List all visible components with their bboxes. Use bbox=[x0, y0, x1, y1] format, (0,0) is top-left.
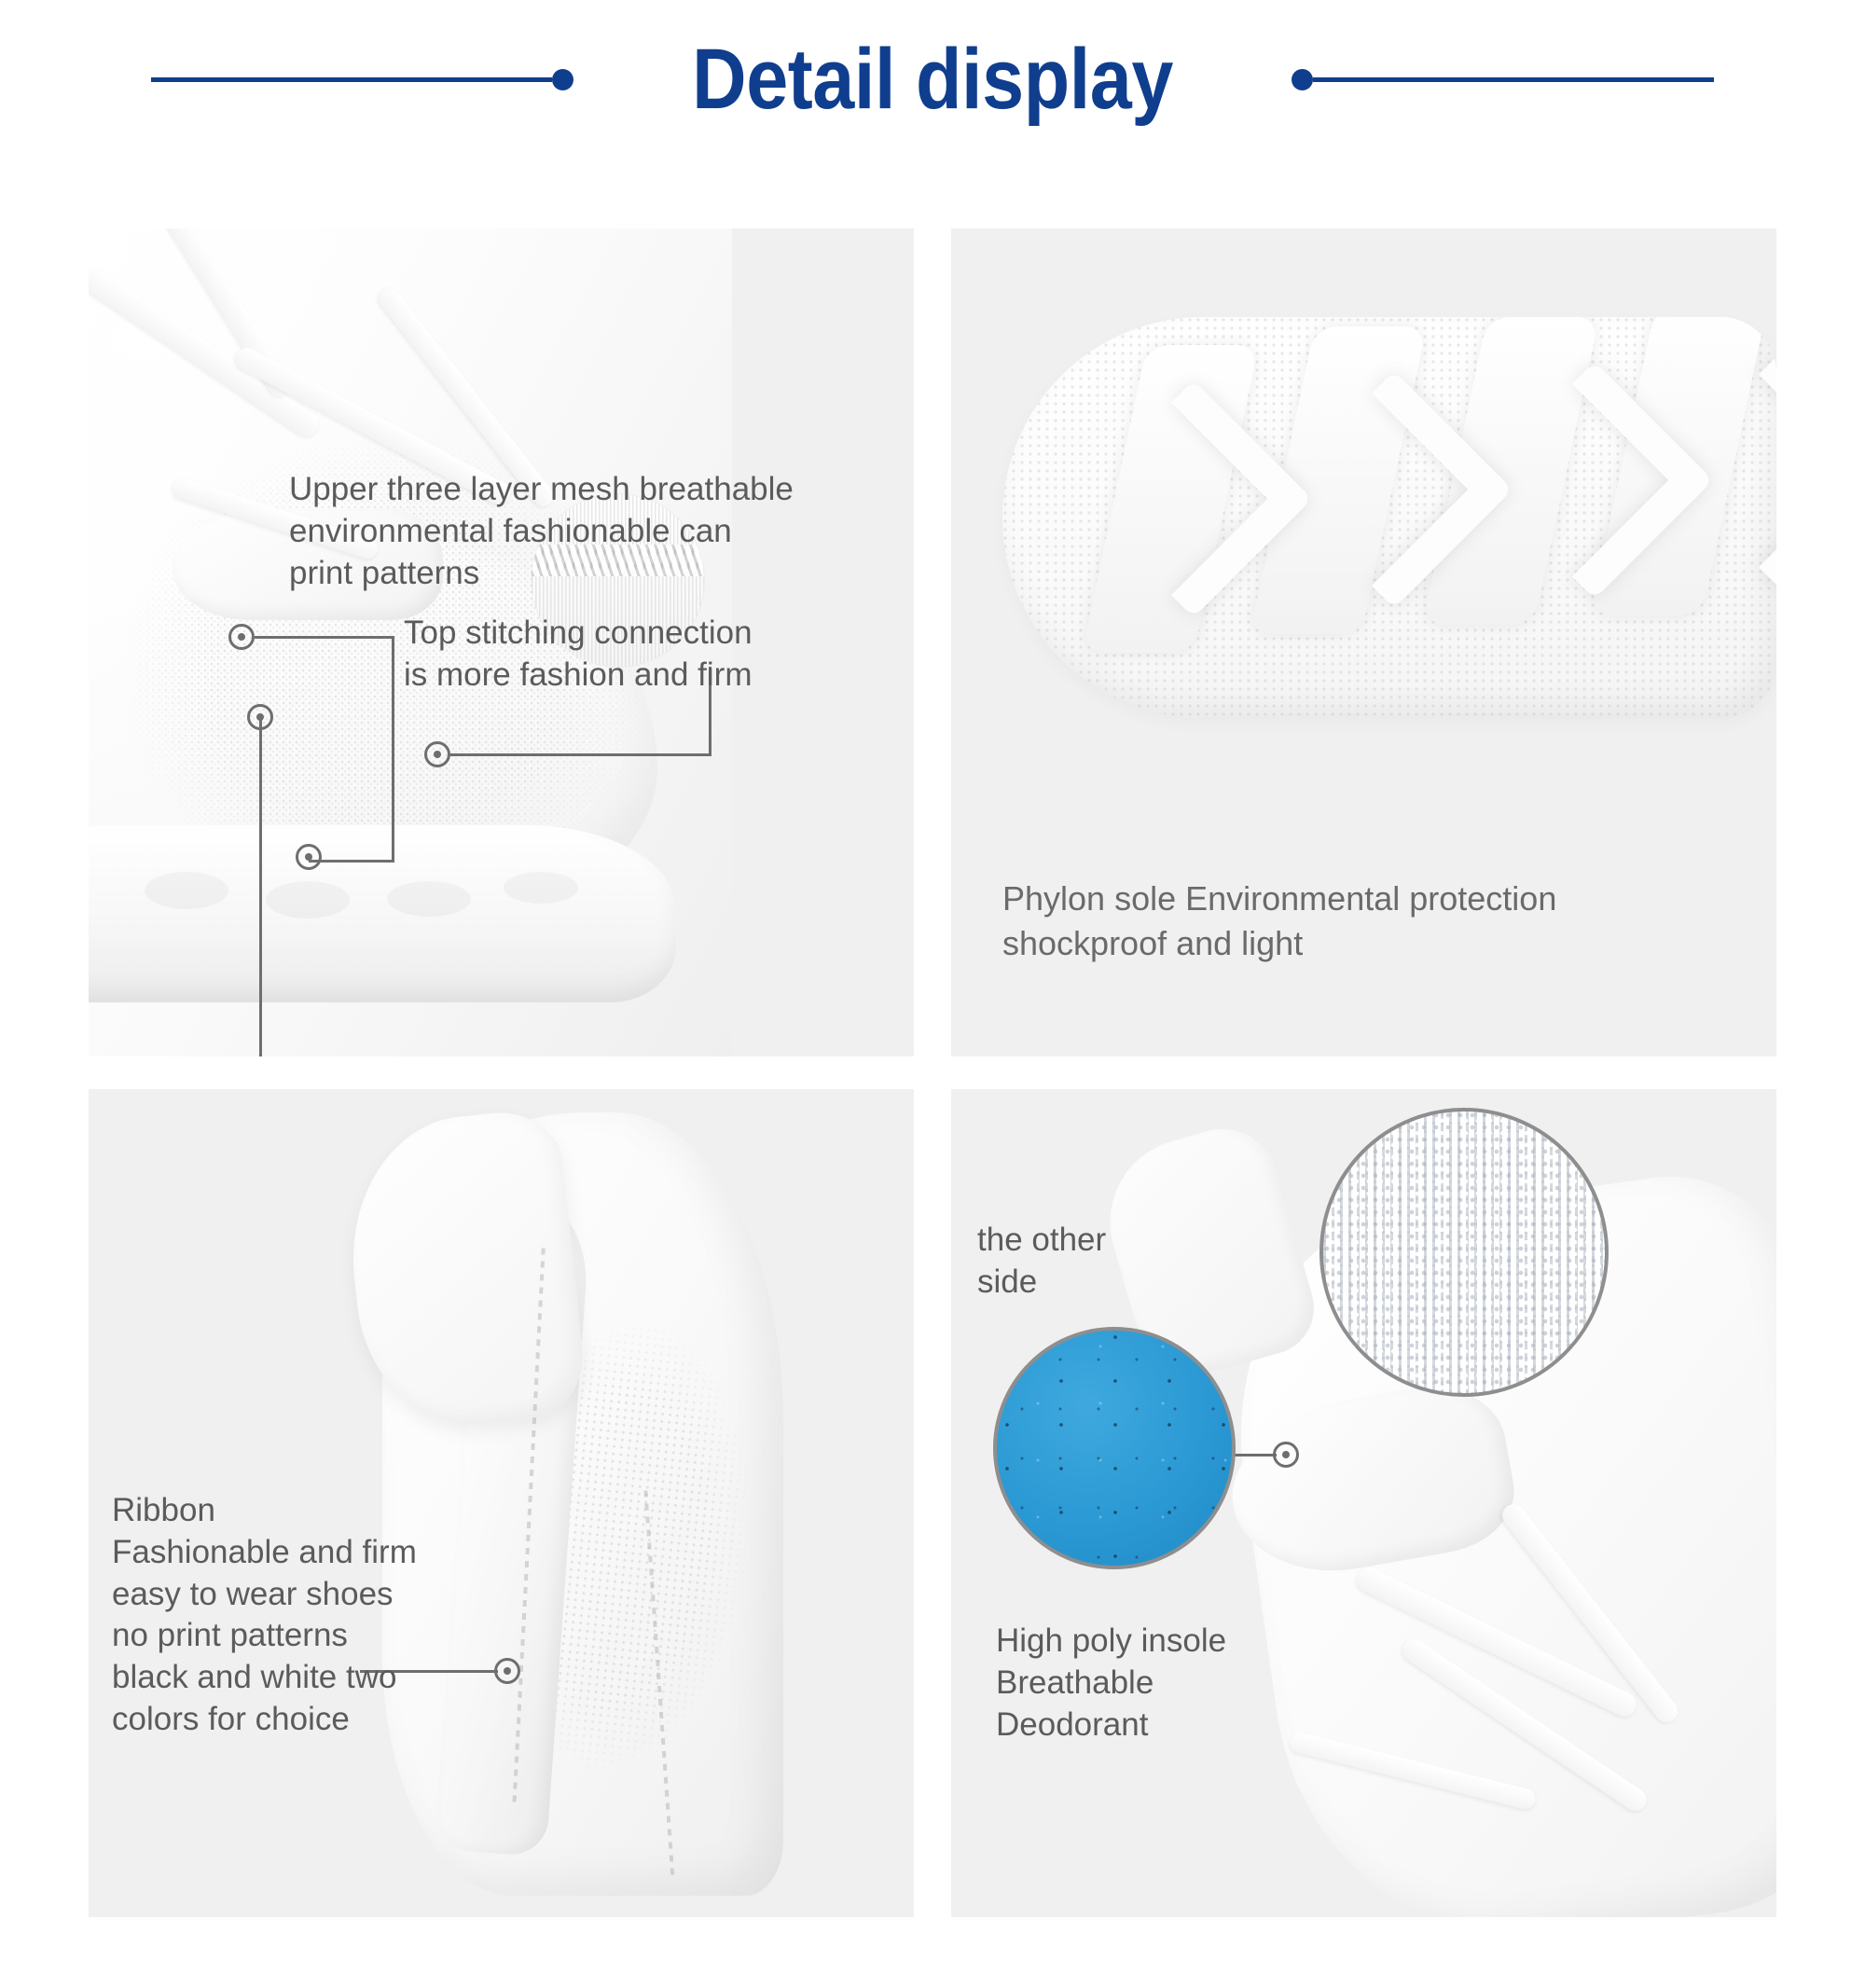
ribbon-loop bbox=[338, 1107, 588, 1436]
callout-marker-insole[interactable] bbox=[1273, 1442, 1299, 1468]
insole-speckle-texture bbox=[997, 1331, 1232, 1566]
header-rule-line-left bbox=[151, 77, 552, 82]
panel-upper-mesh: Upper three layer mesh breathable enviro… bbox=[89, 228, 914, 1056]
shoelace-group bbox=[1343, 1593, 1776, 1917]
phylon-sole-caption: Phylon sole Environmental protection sho… bbox=[1002, 877, 1748, 965]
header-rule-dot-left bbox=[552, 69, 573, 90]
outsole-body bbox=[1002, 317, 1776, 718]
detail-panel-grid: Upper three layer mesh breathable enviro… bbox=[89, 228, 1776, 1930]
weave-fabric-closeup-circle bbox=[1319, 1108, 1609, 1397]
leader-line-stitch-h bbox=[450, 753, 711, 756]
callout-marker-stitch-point[interactable] bbox=[424, 741, 450, 767]
page-title: Detail display bbox=[616, 36, 1249, 122]
sole-notch-1 bbox=[145, 872, 228, 909]
sole-notch-3 bbox=[387, 881, 471, 917]
header-rule-dot-right bbox=[1292, 69, 1313, 90]
sole-notch-4 bbox=[504, 872, 578, 904]
other-side-callout-text: the other side bbox=[977, 1220, 1238, 1304]
panel-high-poly-insole: the other side High poly insole Breathab… bbox=[951, 1089, 1776, 1917]
sole-notch-2 bbox=[266, 881, 350, 918]
leader-line-mesh bbox=[255, 636, 392, 639]
callout-marker-ribbon-top[interactable] bbox=[247, 704, 273, 730]
leader-line-ribbon bbox=[259, 715, 262, 1056]
upper-mesh-callout-text: Upper three layer mesh breathable enviro… bbox=[289, 469, 905, 594]
callout-marker-stitching[interactable] bbox=[296, 844, 322, 870]
header-rule-left bbox=[151, 69, 573, 90]
leader-line-mesh-foot bbox=[309, 860, 394, 863]
header-rule-right bbox=[1292, 69, 1714, 90]
insole-callout-text: High poly insole Breathable Deodorant bbox=[996, 1621, 1350, 1746]
page-header: Detail display bbox=[0, 0, 1865, 159]
panel-ribbon-heel: Ribbon Fashionable and firm easy to wear… bbox=[89, 1089, 914, 1917]
weave-grain-texture bbox=[1323, 1111, 1605, 1393]
leader-line-mesh-down bbox=[392, 636, 394, 860]
ribbon-detail-callout-text: Ribbon Fashionable and firm easy to wear… bbox=[112, 1490, 504, 1741]
callout-marker-ribbon-detail[interactable] bbox=[494, 1658, 520, 1684]
shoe-midsole bbox=[89, 825, 676, 1002]
phylon-sole-photo bbox=[951, 228, 1776, 863]
panel-phylon-sole: Phylon sole Environmental protection sho… bbox=[951, 228, 1776, 1056]
header-rule-line-right bbox=[1313, 77, 1714, 82]
top-stitching-callout-text: Top stitching connection is more fashion… bbox=[404, 613, 889, 697]
callout-marker-mesh[interactable] bbox=[228, 624, 255, 650]
blue-insole-closeup-circle bbox=[993, 1327, 1236, 1569]
